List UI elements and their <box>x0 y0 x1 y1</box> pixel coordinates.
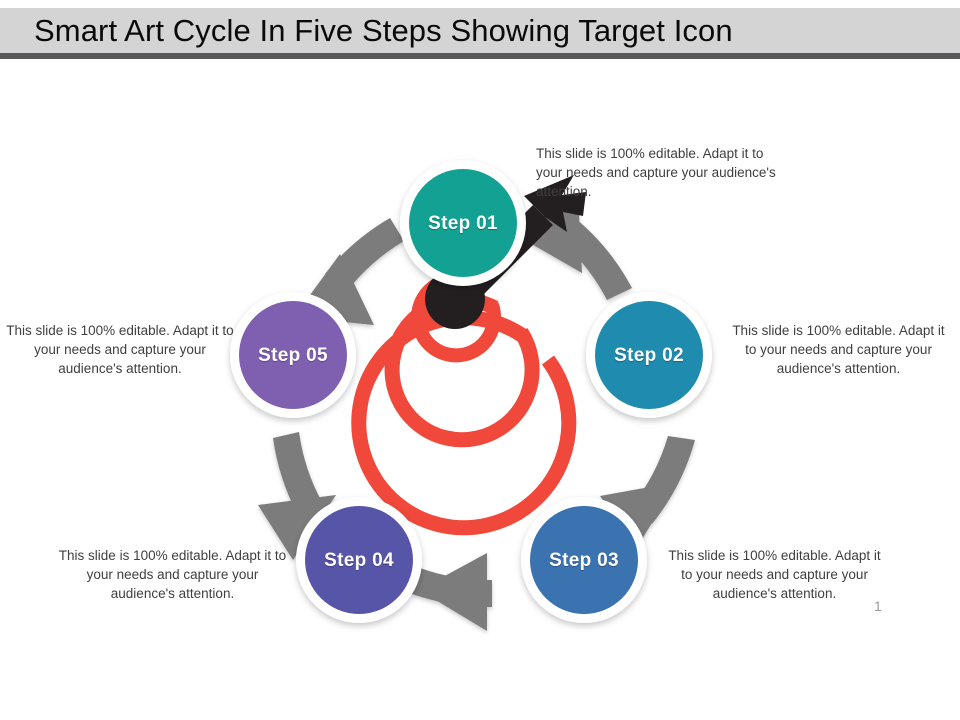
page-number: 1 <box>874 598 882 614</box>
slide-title-bar: Smart Art Cycle In Five Steps Showing Ta… <box>0 8 960 53</box>
step-circle-step-01[interactable] <box>400 160 526 286</box>
arrow-step03-to-step04 <box>412 553 492 631</box>
description-bottom-right: This slide is 100% editable. Adapt it to… <box>662 546 887 603</box>
slide-canvas: Step 01 Step 02 Step 03 Step 04 Step 05 … <box>0 59 960 720</box>
description-bottom-left: This slide is 100% editable. Adapt it to… <box>55 546 290 603</box>
description-top-right: This slide is 100% editable. Adapt it to… <box>536 144 781 201</box>
step-circle-step-04[interactable] <box>296 497 422 623</box>
step-circle-step-05[interactable] <box>230 292 356 418</box>
step-circle-step-03[interactable] <box>521 497 647 623</box>
description-right: This slide is 100% editable. Adapt it to… <box>731 321 946 378</box>
cycle-diagram <box>0 59 960 720</box>
description-left: This slide is 100% editable. Adapt it to… <box>6 321 234 378</box>
step-circle-step-02[interactable] <box>586 292 712 418</box>
page-title: Smart Art Cycle In Five Steps Showing Ta… <box>0 13 733 49</box>
